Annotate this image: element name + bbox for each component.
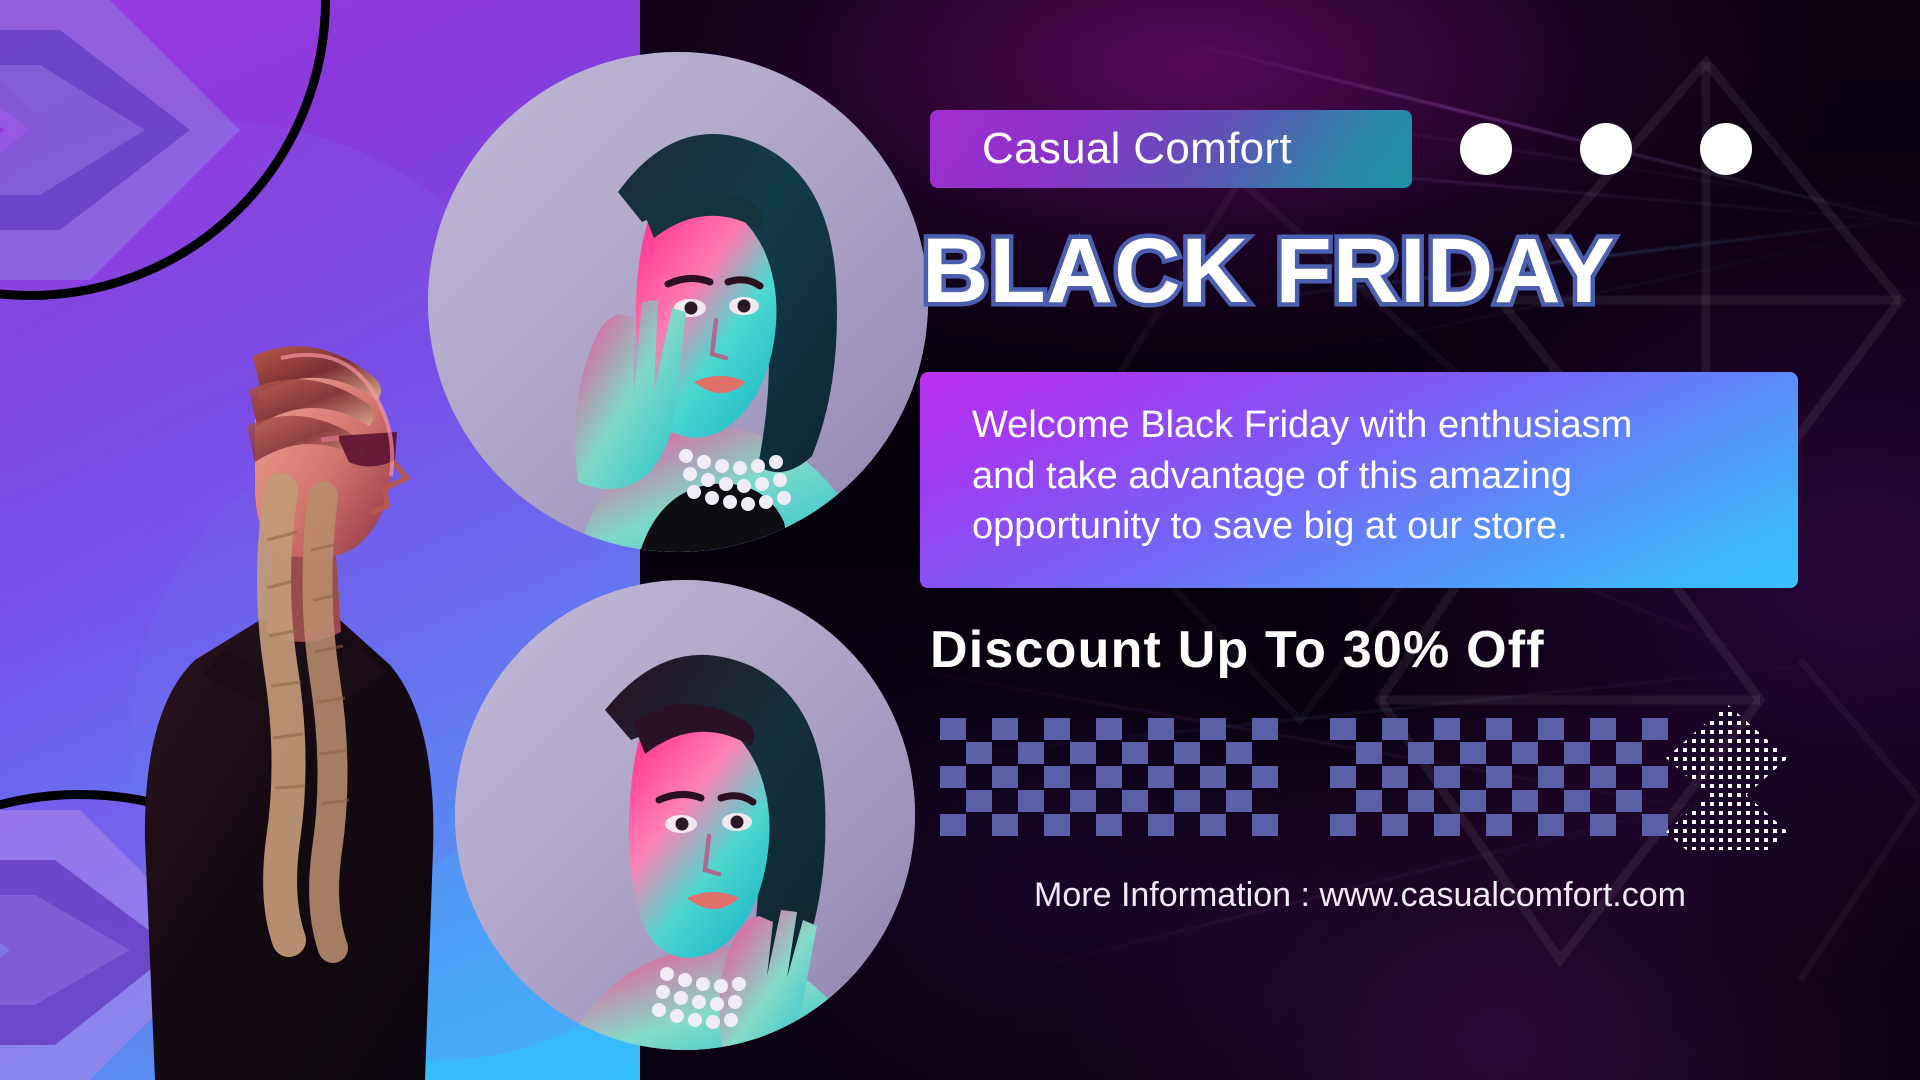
black-friday-promo-banner: Casual Comfort BLACK FRIDAY Welcome Blac…	[0, 0, 1920, 1080]
model-portrait-top	[428, 52, 928, 552]
page-title: BLACK FRIDAY	[922, 225, 1802, 317]
decorative-dot-1	[1460, 123, 1512, 175]
description-line-3: opportunity to save big at our store.	[972, 505, 1568, 547]
dotted-diamond-decoration	[1662, 700, 1792, 850]
model-portrait-bottom	[455, 580, 915, 1050]
decorative-dots-group	[1460, 123, 1752, 175]
description-line-1: Welcome Black Friday with enthusiasm	[972, 404, 1632, 446]
more-information-text[interactable]: More Information : www.casualcomfort.com	[920, 876, 1800, 915]
checkerboard-decoration-group	[940, 718, 1672, 836]
checkerboard-block-1	[940, 718, 1282, 836]
brand-badge[interactable]: Casual Comfort	[930, 110, 1412, 188]
decorative-dot-3	[1700, 123, 1752, 175]
description-line-2: and take advantage of this amazing	[972, 455, 1572, 497]
description-panel: Welcome Black Friday with enthusiasm and…	[920, 372, 1798, 588]
decorative-dot-2	[1580, 123, 1632, 175]
checkerboard-block-2	[1330, 718, 1672, 836]
promo-content-column: Casual Comfort BLACK FRIDAY Welcome Blac…	[930, 0, 1920, 1080]
brand-badge-label: Casual Comfort	[982, 124, 1292, 174]
discount-headline: Discount Up To 30% Off	[930, 620, 1545, 680]
dotted-diamond-bottom	[1666, 778, 1788, 850]
